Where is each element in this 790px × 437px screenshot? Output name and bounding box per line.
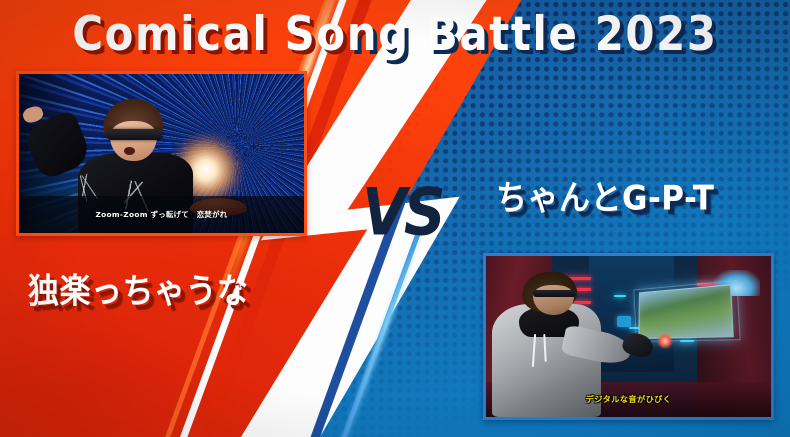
right-subtitle-text: デジタルな音がひびく xyxy=(586,393,672,405)
sunglasses-icon xyxy=(107,129,162,139)
comical-song-battle-thumbnail: Comical Song Battle 2023 Comical Song Ba… xyxy=(0,0,790,437)
right-video-thumbnail[interactable]: デジタルな音がひびく xyxy=(483,253,774,420)
versus-label: VS xyxy=(362,174,443,250)
left-subtitle-bar: Zoom-Zoom ずっ転げて 恋焚がれ xyxy=(19,196,304,233)
page-title: Comical Song Battle 2023 xyxy=(0,6,790,62)
vr-glasses-icon xyxy=(533,290,577,297)
left-song-title: 独楽っちゃうな xyxy=(28,263,249,313)
left-subtitle-text: Zoom-Zoom ずっ転げて 恋焚がれ xyxy=(96,209,228,220)
right-song-title: ちゃんとG-P-T xyxy=(496,170,714,220)
right-subtitle-bar: デジタルな音がひびく xyxy=(486,388,771,411)
hologram-spark xyxy=(657,333,673,349)
hologram-screen xyxy=(639,284,734,339)
left-video-thumbnail[interactable]: Zoom-Zoom ずっ転げて 恋焚がれ xyxy=(16,71,307,236)
